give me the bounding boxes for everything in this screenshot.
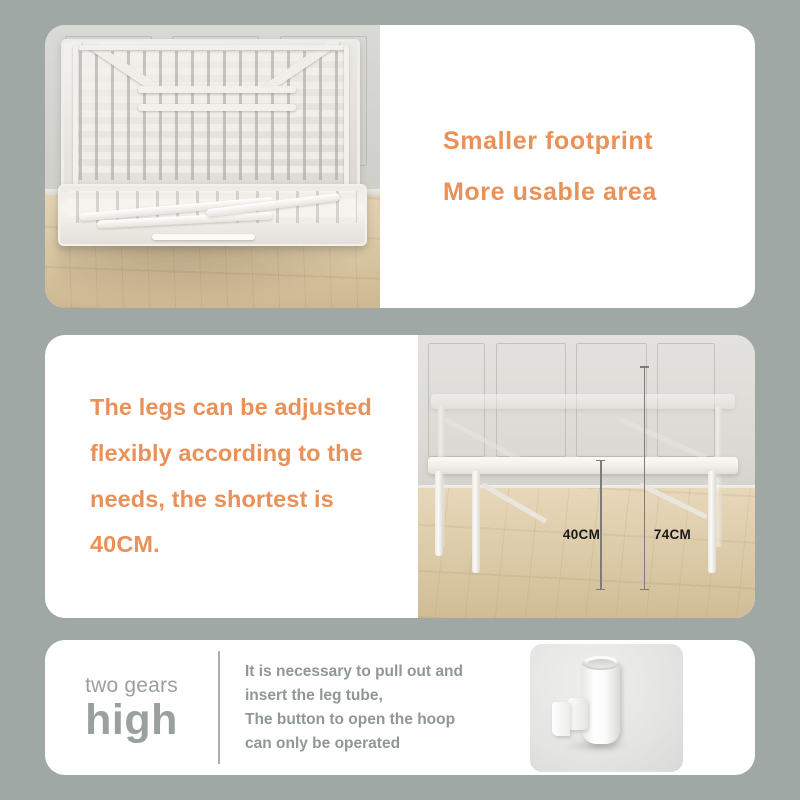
connector-thumbnail <box>530 644 683 772</box>
mid-text-line-3: needs, the shortest is <box>90 477 420 523</box>
measure-line-74cm <box>644 366 646 590</box>
gears-label: two gears <box>85 674 178 698</box>
mid-text-line-4: 40CM. <box>90 522 420 568</box>
measure-cap-74cm-top <box>640 366 649 368</box>
short-table-leg-front-left <box>472 471 480 573</box>
instruction-line-4: can only be operated <box>245 733 530 755</box>
instruction-line-2: insert the leg tube, <box>245 685 530 707</box>
folded-table-tray <box>58 184 366 246</box>
top-feature-card: Smaller footprint More usable area <box>45 25 755 308</box>
folded-table-right-rail <box>344 45 349 186</box>
instruction-line-3: The button to open the hoop <box>245 709 530 731</box>
folded-table-top-rail <box>76 45 346 50</box>
measure-cap-40cm-top <box>596 460 605 462</box>
measure-label-74cm: 74CM <box>654 527 691 542</box>
connector-tube-bore <box>587 659 615 668</box>
middle-feature-card: The legs can be adjusted flexibly accord… <box>45 335 755 618</box>
measure-line-40cm <box>600 460 602 590</box>
gears-block: two gears high <box>45 640 218 775</box>
measure-cap-40cm-bottom <box>596 589 605 591</box>
folded-table-slot-pattern <box>73 51 348 180</box>
table-photo-floor <box>418 488 755 618</box>
mid-text-line-1: The legs can be adjusted <box>90 385 420 431</box>
gears-value: high <box>85 699 178 742</box>
folded-table-brace-2 <box>138 104 296 111</box>
folded-table-underside <box>61 39 360 192</box>
middle-text-block: The legs can be adjusted flexibly accord… <box>90 335 420 618</box>
vertical-divider <box>218 651 220 764</box>
folded-table-brace-1 <box>138 86 296 93</box>
folded-table-handle <box>152 234 255 240</box>
connector-clamp <box>568 698 588 730</box>
measure-cap-74cm-bottom <box>640 589 649 591</box>
short-table-leg-right <box>708 471 716 573</box>
mid-text-line-2: flexibly according to the <box>90 431 420 477</box>
folded-table-photo <box>45 25 380 308</box>
product-infographic-page: Smaller footprint More usable area The l… <box>0 0 800 800</box>
folded-table-object <box>58 39 366 246</box>
tall-table-top <box>431 394 734 408</box>
measure-label-40cm: 40CM <box>563 527 600 542</box>
folded-table-left-rail <box>73 45 78 186</box>
top-headline-block: Smaller footprint More usable area <box>435 25 755 308</box>
connector-lever <box>552 702 570 736</box>
instruction-text-block: It is necessary to pull out and insert t… <box>245 640 530 775</box>
short-table-leg-left <box>435 471 443 556</box>
headline-more-usable-area: More usable area <box>443 178 755 207</box>
instruction-line-1: It is necessary to pull out and <box>245 661 530 683</box>
headline-smaller-footprint: Smaller footprint <box>443 127 755 156</box>
adjustable-table-photo: 40CM 74CM <box>418 335 755 618</box>
bottom-info-card: two gears high It is necessary to pull o… <box>45 640 755 775</box>
